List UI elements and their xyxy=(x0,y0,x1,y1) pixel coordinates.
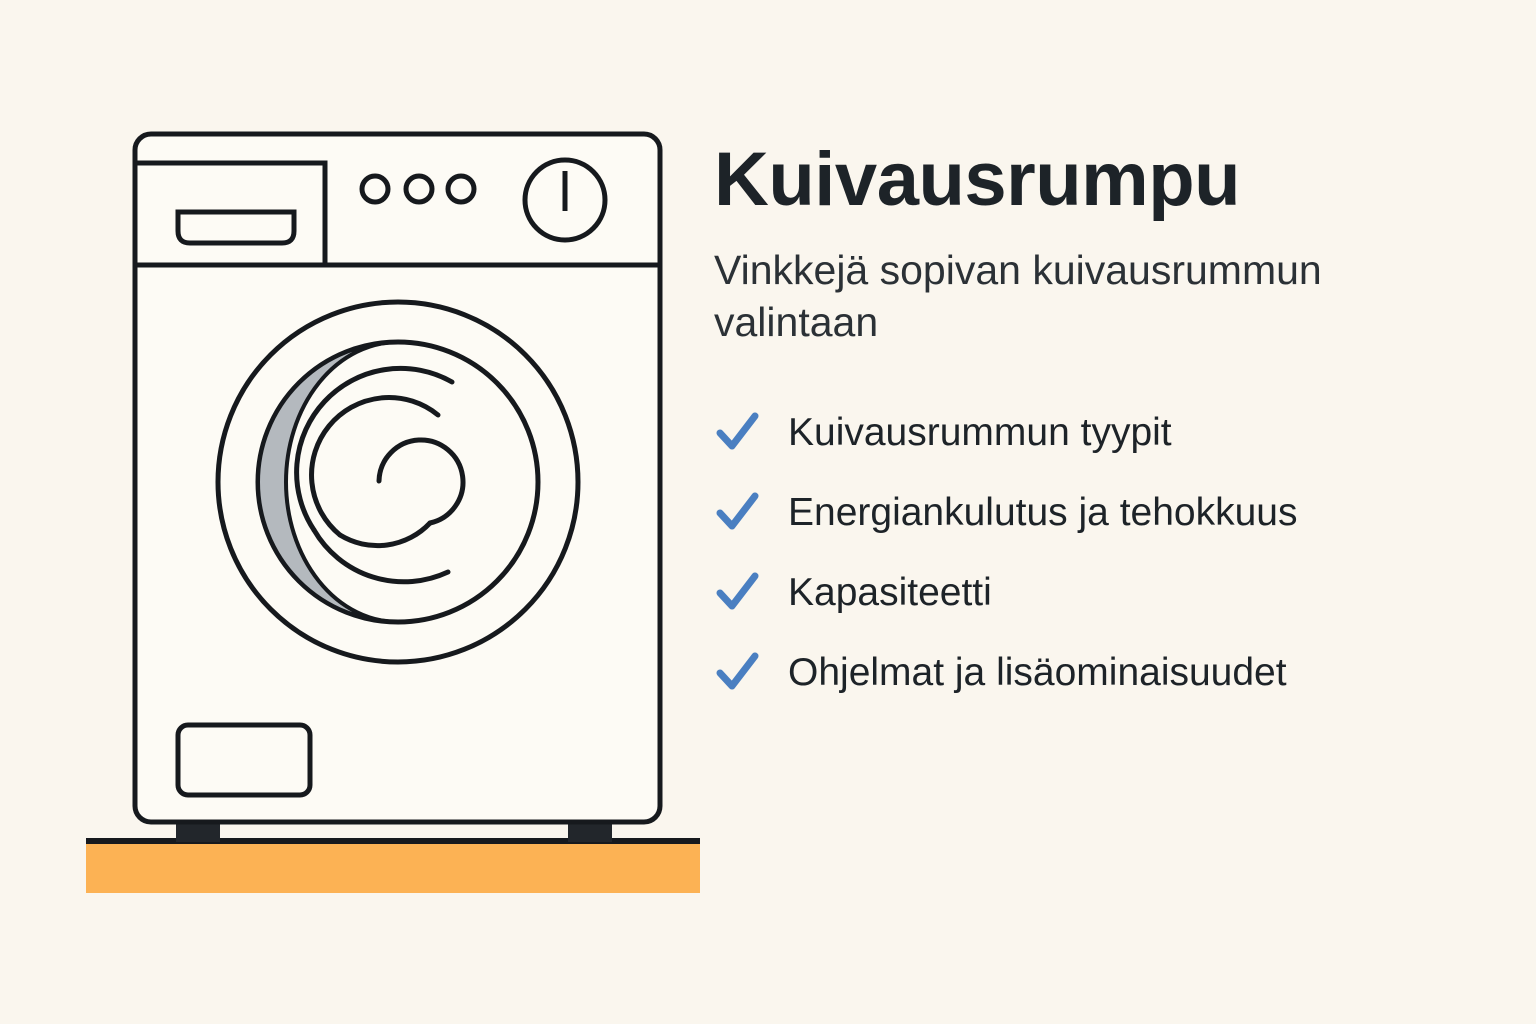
list-item: Ohjelmat ja lisäominaisuudet xyxy=(714,644,1504,700)
floor-bar xyxy=(86,838,700,893)
page-title: Kuivausrumpu xyxy=(714,120,1504,218)
list-item-label: Energiankulutus ja tehokkuus xyxy=(788,493,1298,532)
tumble-dryer-illustration xyxy=(0,0,700,1024)
list-item: Energiankulutus ja tehokkuus xyxy=(714,484,1504,540)
list-item-label: Kapasiteetti xyxy=(788,573,992,612)
infographic-canvas: Kuivausrumpu Vinkkejä sopivan kuivausrum… xyxy=(0,0,1536,1024)
list-item-label: Kuivausrummun tyypit xyxy=(788,413,1172,452)
subtitle: Vinkkejä sopivan kuivausrummun valintaan xyxy=(714,244,1374,348)
check-icon xyxy=(714,649,760,695)
feature-checklist: Kuivausrummun tyypit Energiankulutus ja … xyxy=(714,404,1504,700)
check-icon xyxy=(714,489,760,535)
list-item: Kuivausrummun tyypit xyxy=(714,404,1504,460)
check-icon xyxy=(714,569,760,615)
list-item: Kapasiteetti xyxy=(714,564,1504,620)
list-item-label: Ohjelmat ja lisäominaisuudet xyxy=(788,653,1287,692)
text-column: Kuivausrumpu Vinkkejä sopivan kuivausrum… xyxy=(714,120,1504,724)
check-icon xyxy=(714,409,760,455)
